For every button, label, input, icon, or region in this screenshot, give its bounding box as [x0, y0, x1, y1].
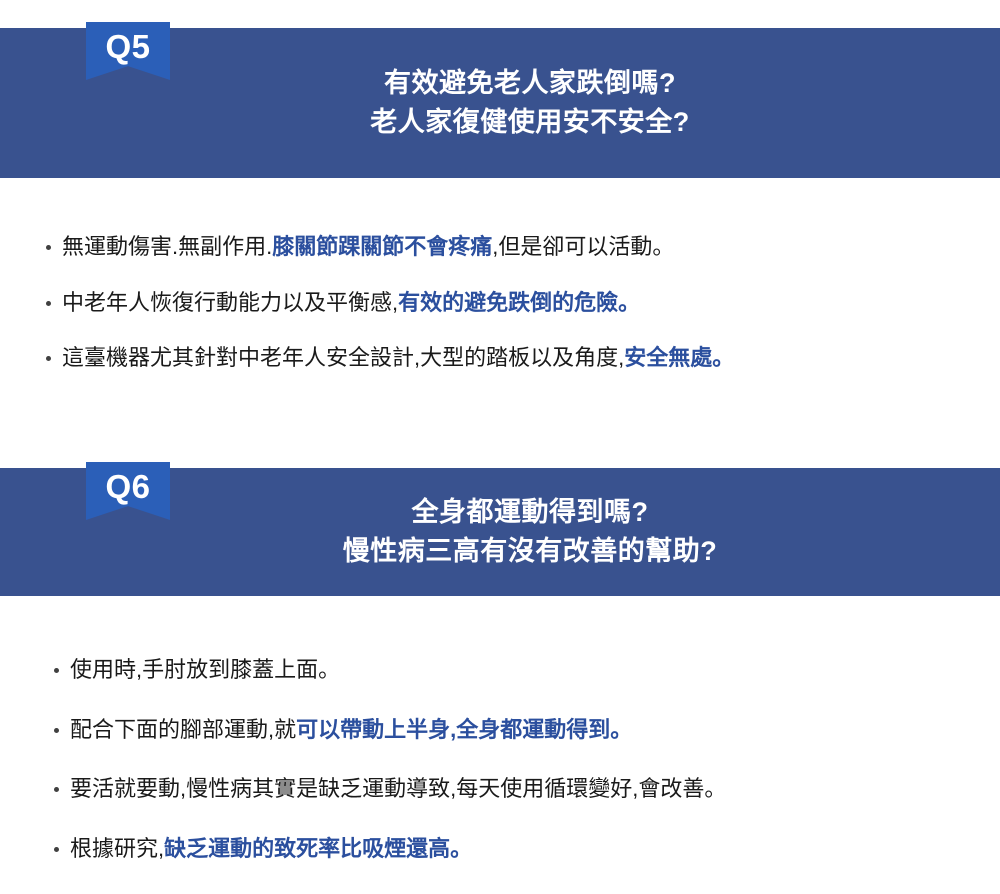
list-item: 根據研究,缺乏運動的致死率比吸煙還高。	[48, 834, 726, 864]
question-banner-q6: Q6 全身都運動得到嗎? 慢性病三高有沒有改善的幫助?	[0, 468, 1000, 596]
answer-segment: 這臺機器尤其針對中老年人安全設計,大型的踏板以及角度,	[62, 345, 624, 370]
answer-segment: 要活就要動,慢性病其實是缺乏運動導致,每天使用循環變好,會改善。	[70, 776, 726, 801]
answer-segment: 根據研究,	[70, 836, 164, 861]
answer-segment-highlight: 可以帶動上半身,全身都運動得到。	[296, 717, 632, 742]
answer-segment-highlight: 安全無處。	[624, 345, 734, 370]
answer-segment: 使用時,手肘放到膝蓋上面。	[70, 657, 340, 682]
answer-segment-highlight: 有效的避免跌倒的危險。	[398, 290, 640, 315]
question-block-q6: Q6 全身都運動得到嗎? 慢性病三高有沒有改善的幫助?	[0, 468, 1000, 596]
list-item: 要活就要動,慢性病其實是缺乏運動導致,每天使用循環變好,會改善。	[48, 774, 726, 804]
answer-segment-highlight: 缺乏運動的致死率比吸煙還高。	[164, 836, 472, 861]
question-block-q5: Q5 有效避免老人家跌倒嗎? 老人家復健使用安不安全?	[0, 28, 1000, 178]
question-headline-line2-q5: 老人家復健使用安不安全?	[310, 103, 690, 142]
answer-segment: 無運動傷害.無副作用.	[62, 234, 272, 259]
list-item: 使用時,手肘放到膝蓋上面。	[48, 655, 726, 685]
question-banner-q5: Q5 有效避免老人家跌倒嗎? 老人家復健使用安不安全?	[0, 28, 1000, 178]
answer-list-q5: 無運動傷害.無副作用.膝關節踝關節不會疼痛,但是卻可以活動。 中老年人恢復行動能…	[40, 232, 734, 399]
question-headline-line2-q6: 慢性病三高有沒有改善的幫助?	[283, 532, 718, 571]
answer-segment: 配合下面的腳部運動,就	[70, 717, 296, 742]
list-item: 這臺機器尤其針對中老年人安全設計,大型的踏板以及角度,安全無處。	[40, 343, 734, 373]
question-tag-q5: Q5	[86, 22, 170, 80]
faq-page: Q5 有效避免老人家跌倒嗎? 老人家復健使用安不安全? 無運動傷害.無副作用.膝…	[0, 0, 1000, 894]
list-item: 中老年人恢復行動能力以及平衡感,有效的避免跌倒的危險。	[40, 288, 734, 318]
list-item: 無運動傷害.無副作用.膝關節踝關節不會疼痛,但是卻可以活動。	[40, 232, 734, 262]
question-headline-line1-q6: 全身都運動得到嗎?	[352, 493, 649, 532]
answer-segment: 中老年人恢復行動能力以及平衡感,	[62, 290, 398, 315]
answer-segment-highlight: 膝關節踝關節不會疼痛	[272, 234, 492, 259]
question-headline-line1-q5: 有效避免老人家跌倒嗎?	[324, 64, 676, 103]
list-item: 配合下面的腳部運動,就可以帶動上半身,全身都運動得到。	[48, 715, 726, 745]
answer-segment: ,但是卻可以活動。	[492, 234, 674, 259]
question-tag-q6: Q6	[86, 462, 170, 520]
answer-list-q6: 使用時,手肘放到膝蓋上面。 配合下面的腳部運動,就可以帶動上半身,全身都運動得到…	[48, 655, 726, 894]
